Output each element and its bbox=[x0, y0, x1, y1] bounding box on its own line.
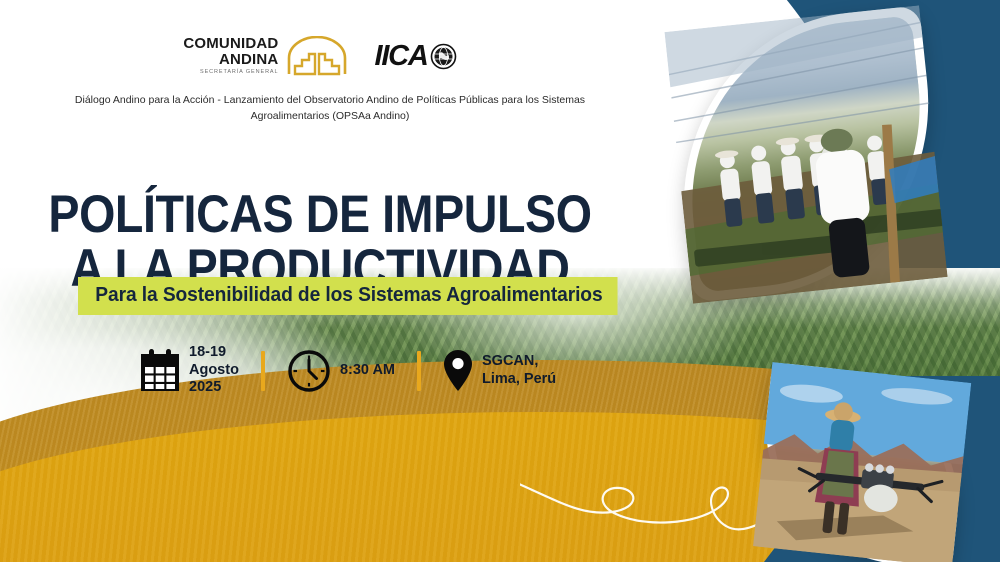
photo-nursery-field-visit bbox=[664, 5, 947, 302]
detail-time-label: 8:30 AM bbox=[340, 362, 395, 380]
ca-line1: COMUNIDAD bbox=[183, 36, 278, 51]
detail-location-label: SGCAN, Lima, Perú bbox=[482, 353, 556, 388]
event-eyebrow-text: Diálogo Andino para la Acción - Lanzamie… bbox=[50, 92, 610, 125]
comunidad-andina-wordmark: COMUNIDAD ANDINA SECRETARÍA GENERAL bbox=[183, 36, 278, 76]
nursery-scene-illustration bbox=[674, 15, 937, 292]
detail-location: SGCAN, Lima, Perú bbox=[443, 349, 556, 393]
andean-arch-icon bbox=[286, 36, 348, 76]
drone-scene-illustration bbox=[762, 371, 963, 561]
location-pin-icon bbox=[443, 349, 473, 393]
calendar-icon bbox=[140, 349, 180, 393]
photo-drone-image bbox=[762, 371, 963, 561]
detail-date-label: 18-19 Agosto 2025 bbox=[189, 344, 239, 397]
event-poster: COMUNIDAD ANDINA SECRETARÍA GENERAL IICA bbox=[0, 0, 1000, 562]
clock-icon bbox=[287, 349, 331, 393]
ca-line2: ANDINA bbox=[183, 52, 278, 67]
detail-date: 18-19 Agosto 2025 bbox=[140, 344, 239, 397]
photo-drone-agriculture bbox=[753, 362, 972, 562]
logo-iica: IICA bbox=[374, 40, 456, 73]
ca-line3: SECRETARÍA GENERAL bbox=[183, 70, 278, 76]
subtitle-banner: Para la Sostenibilidad de los Sistemas A… bbox=[78, 277, 618, 315]
globe-icon bbox=[430, 43, 457, 70]
photo-nursery-image bbox=[674, 15, 937, 292]
iica-wordmark: IICA bbox=[374, 40, 427, 73]
logo-row: COMUNIDAD ANDINA SECRETARÍA GENERAL IICA bbox=[0, 36, 640, 76]
detail-divider-1 bbox=[261, 351, 265, 391]
logo-comunidad-andina: COMUNIDAD ANDINA SECRETARÍA GENERAL bbox=[183, 36, 348, 76]
detail-time: 8:30 AM bbox=[287, 349, 395, 393]
detail-divider-2 bbox=[417, 351, 421, 391]
event-details-row: 18-19 Agosto 2025 8:30 AM SG bbox=[140, 344, 556, 397]
